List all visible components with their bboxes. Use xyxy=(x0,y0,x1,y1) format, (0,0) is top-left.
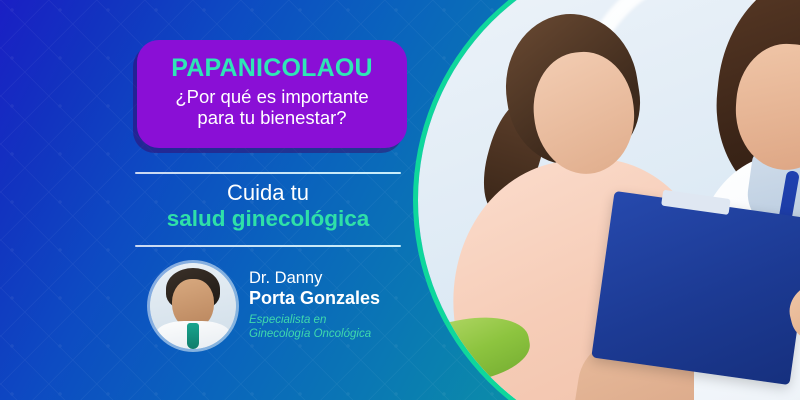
doctor-text-block: Dr. Danny Porta Gonzales Especialista en… xyxy=(249,270,380,341)
divider-bottom xyxy=(135,245,401,247)
doctor-specialty: Especialista en Ginecología Oncológica xyxy=(249,313,380,342)
avatar-tie xyxy=(187,323,199,349)
headline-title: PAPANICOLAOU xyxy=(171,56,372,81)
doctor-specialty-line1: Especialista en xyxy=(249,314,326,326)
headline-subtitle-line1: ¿Por qué es importante xyxy=(175,86,368,107)
headline-subtitle-line2: para tu bienestar? xyxy=(175,107,368,128)
consultation-photo-circle xyxy=(418,0,800,400)
doctor-credit: Dr. Danny Porta Gonzales Especialista en… xyxy=(150,258,410,354)
doctor-first-name: Dr. Danny xyxy=(249,270,380,288)
headline-callout: PAPANICOLAOU ¿Por qué es importante para… xyxy=(137,40,407,148)
headline-subtitle: ¿Por qué es importante para tu bienestar… xyxy=(175,86,368,129)
doctor-specialty-line2: Ginecología Oncológica xyxy=(249,328,371,340)
tagline-line1: Cuida tu xyxy=(135,180,401,205)
tagline-block: Cuida tu salud ginecológica xyxy=(135,180,401,232)
consultation-photo xyxy=(418,0,800,400)
health-promo-banner: PAPANICOLAOU ¿Por qué es importante para… xyxy=(0,0,800,400)
tagline-line2: salud ginecológica xyxy=(135,205,401,232)
banner-content: PAPANICOLAOU ¿Por qué es importante para… xyxy=(0,0,420,400)
doctor-last-name: Porta Gonzales xyxy=(249,289,380,308)
divider-top xyxy=(135,172,401,174)
blue-clipboard xyxy=(591,191,800,385)
avatar xyxy=(150,263,236,349)
